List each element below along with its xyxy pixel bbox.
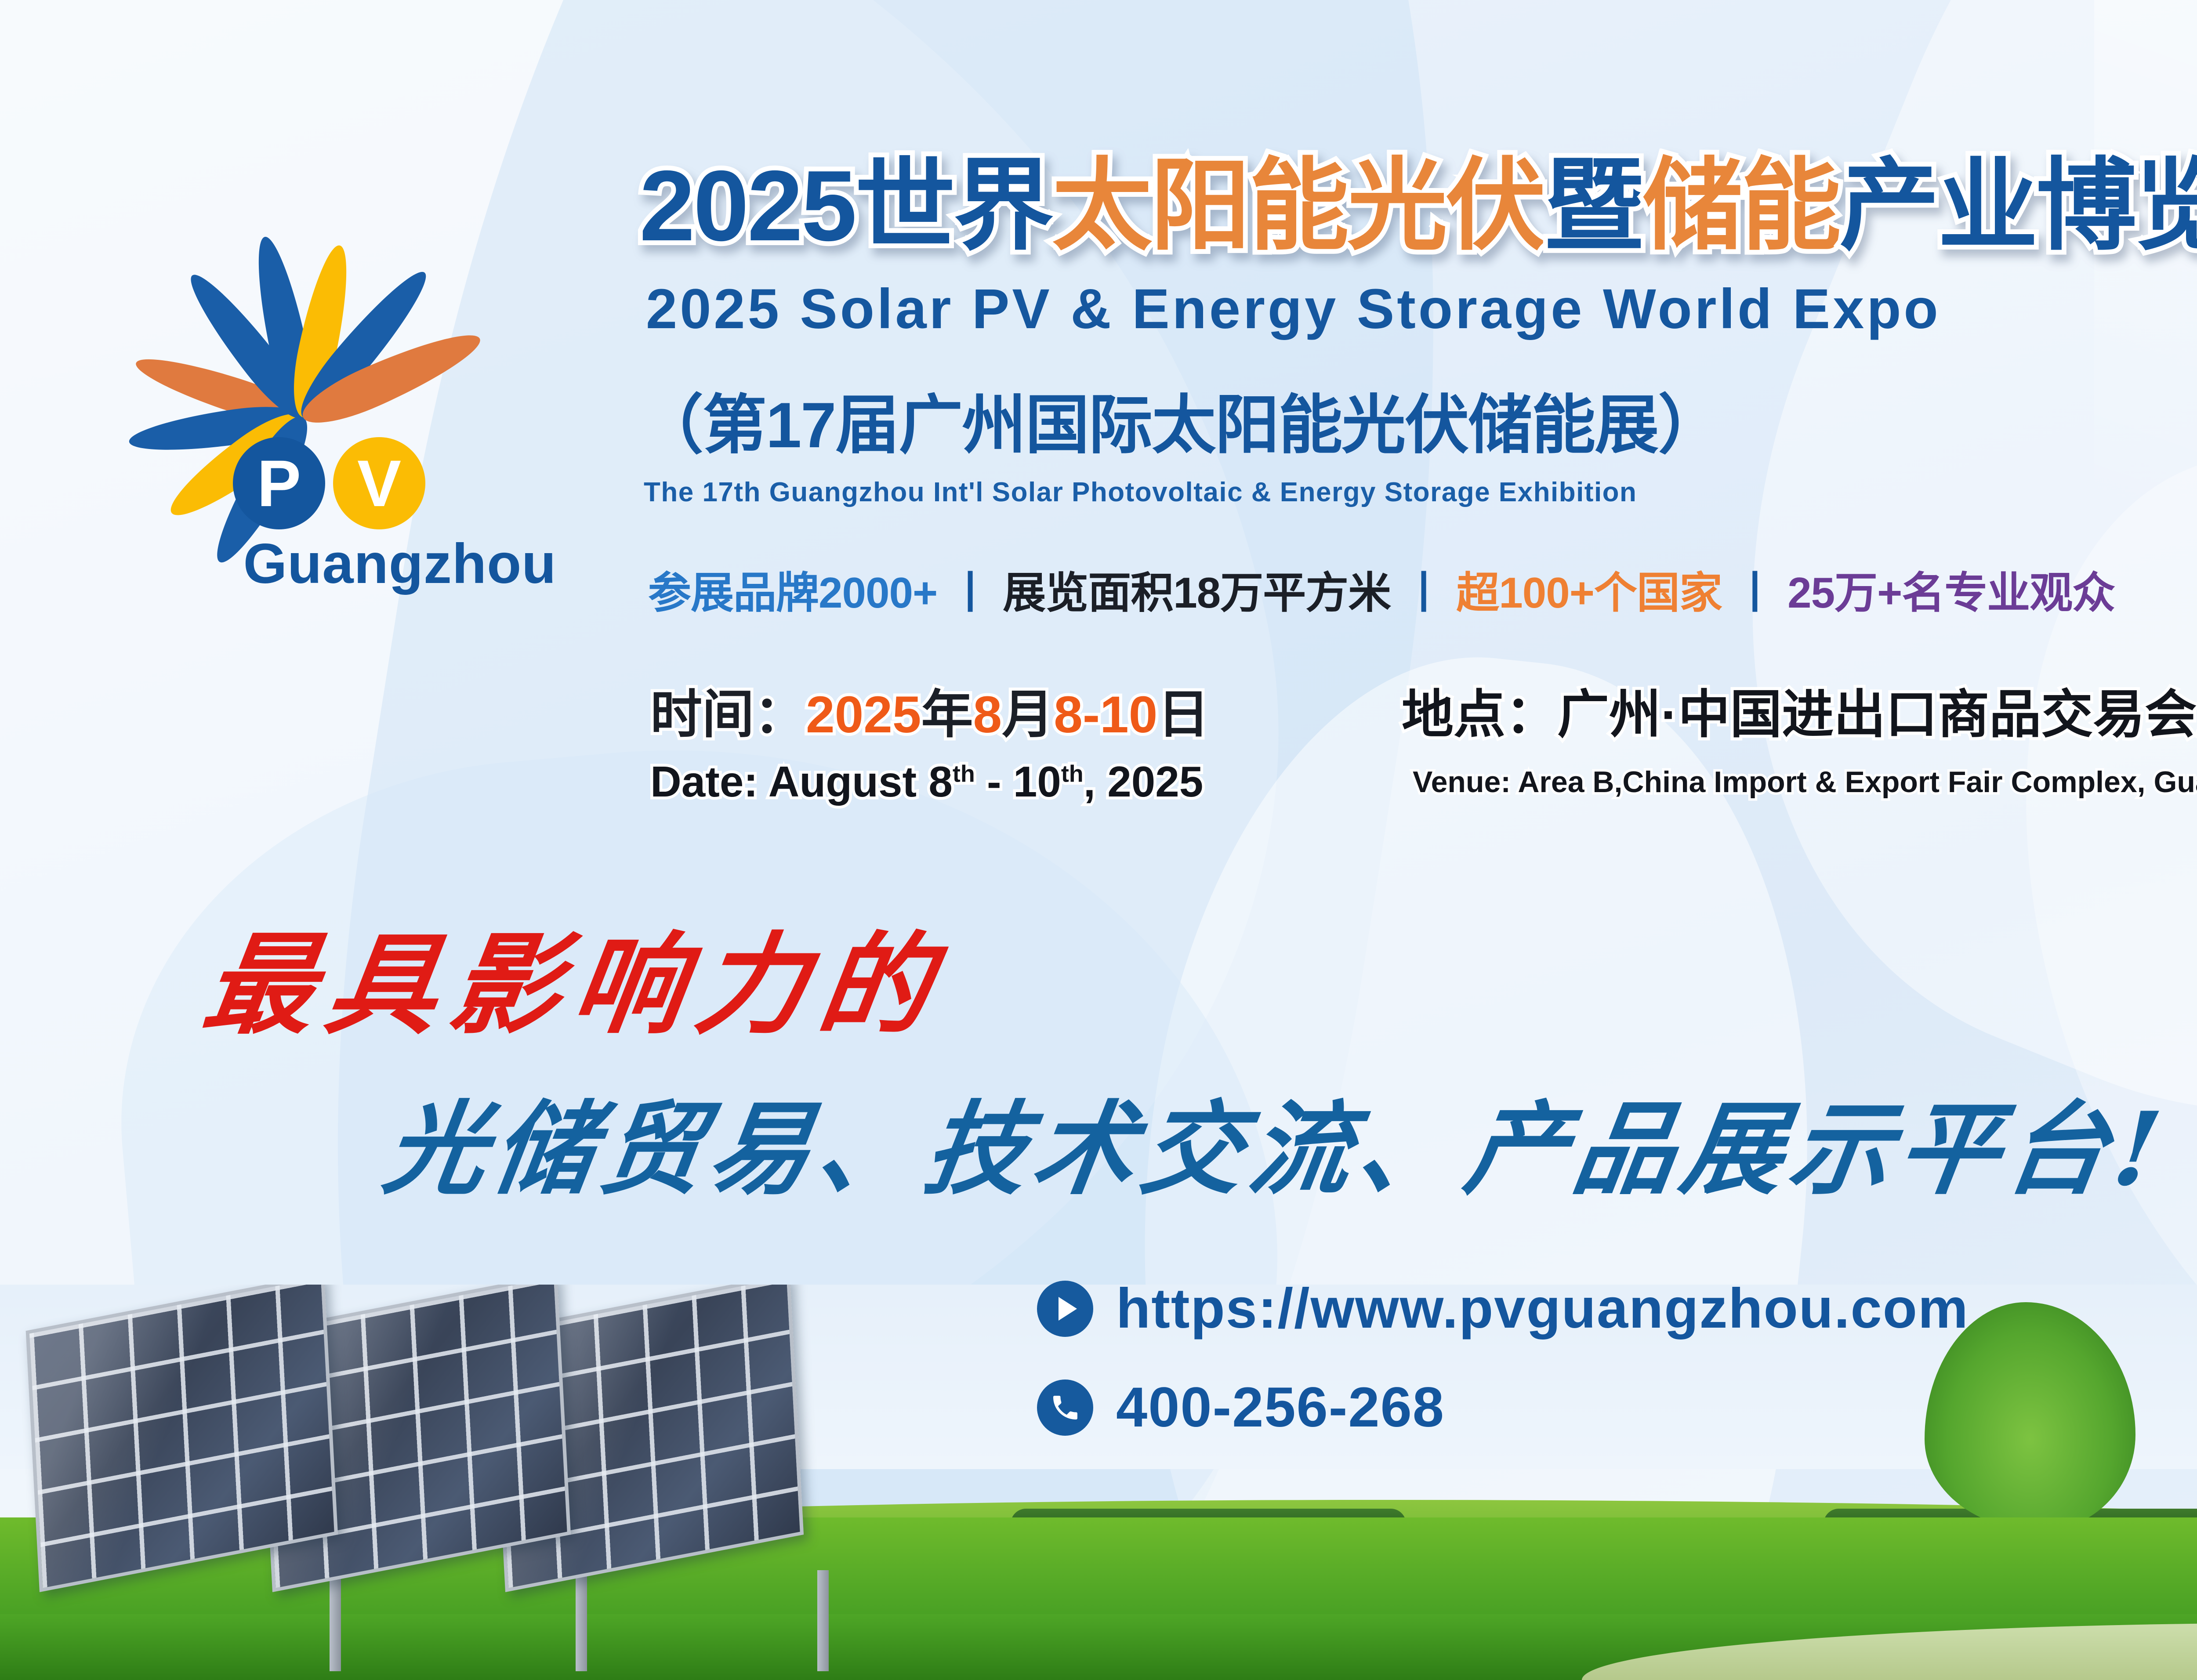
date-year: 2025 — [806, 686, 921, 744]
date-month: 8 — [973, 686, 1002, 744]
website-url[interactable]: https://www.pvguangzhou.com — [1116, 1276, 1969, 1341]
event-date-en: Date: August 8th - 10th, 2025 — [650, 757, 1209, 807]
page-title-en: 2025 Solar PV & Energy Storage World Exp… — [646, 277, 1941, 341]
date-days: 8-10 — [1054, 686, 1157, 744]
title-segment-4: 产业博览会 — [1839, 150, 2197, 262]
date-day-char: 日 — [1157, 686, 1209, 744]
stat-item-1: 展览面积18万平方米 — [1003, 558, 1391, 620]
poster-content: 2025世界太阳能光伏暨储能产业博览会 2025 Solar PV & Ener… — [0, 0, 2197, 1680]
page-title-cn: 2025世界太阳能光伏暨储能产业博览会 — [639, 156, 2197, 256]
date-en-ordinal-1: th — [953, 760, 975, 787]
stats-strip: 参展品牌2000+丨展览面积18万平方米丨超100+个国家丨25万+名专业观众 — [648, 558, 2115, 620]
event-date-cn: 时间：2025年8月8-10日 — [650, 672, 1209, 747]
event-venue-en: Venue: Area B,China Import & Export Fair… — [1413, 765, 2197, 799]
page-subtitle-en: The 17th Guangzhou Int'l Solar Photovolt… — [644, 477, 1637, 508]
contact-block: https://www.pvguangzhou.com 400-256-268 — [1037, 1276, 1969, 1474]
event-venue-cn: 地点：广州·中国进出口商品交易会展馆B区 — [1402, 672, 2197, 747]
date-en-ordinal-2: th — [1061, 760, 1084, 787]
stats-separator: 丨 — [937, 558, 1003, 620]
website-row[interactable]: https://www.pvguangzhou.com — [1037, 1276, 1969, 1341]
event-venue-block: 地点：广州·中国进出口商品交易会展馆B区 Venue: Area B,China… — [1402, 672, 2197, 799]
date-month-char: 月 — [1002, 686, 1054, 744]
stats-separator: 丨 — [1391, 558, 1456, 620]
telephone-icon — [1037, 1379, 1093, 1436]
phone-row[interactable]: 400-256-268 — [1037, 1375, 1969, 1440]
slogan-line-2: 光储贸易、技术交流、产品展示平台! — [377, 1068, 2178, 1214]
date-en-suffix: , 2025 — [1084, 757, 1203, 806]
date-year-char: 年 — [921, 686, 973, 744]
date-en-mid: - 10 — [975, 757, 1061, 806]
stat-item-3: 25万+名专业观众 — [1787, 558, 2115, 620]
title-segment-3: 储能 — [1642, 150, 1839, 262]
stat-item-2: 超100+个国家 — [1456, 558, 1722, 620]
title-segment-0: 2025世界 — [639, 150, 1052, 262]
page-subtitle-cn: （第17届广州国际太阳能光伏储能展） — [639, 373, 1721, 466]
slogan-line-1: 最具影响力的 — [196, 896, 956, 1055]
date-en-prefix: Date: August 8 — [650, 757, 953, 806]
title-segment-2: 暨 — [1544, 150, 1642, 262]
title-segment-1: 太阳能光伏 — [1052, 150, 1544, 262]
play-triangle-icon — [1037, 1281, 1093, 1337]
event-date-block: 时间：2025年8月8-10日 Date: August 8th - 10th,… — [650, 672, 1209, 807]
date-label-cn: 时间： — [650, 686, 806, 744]
stats-separator: 丨 — [1722, 558, 1787, 620]
phone-number[interactable]: 400-256-268 — [1116, 1375, 1445, 1440]
stat-item-0: 参展品牌2000+ — [648, 558, 937, 620]
